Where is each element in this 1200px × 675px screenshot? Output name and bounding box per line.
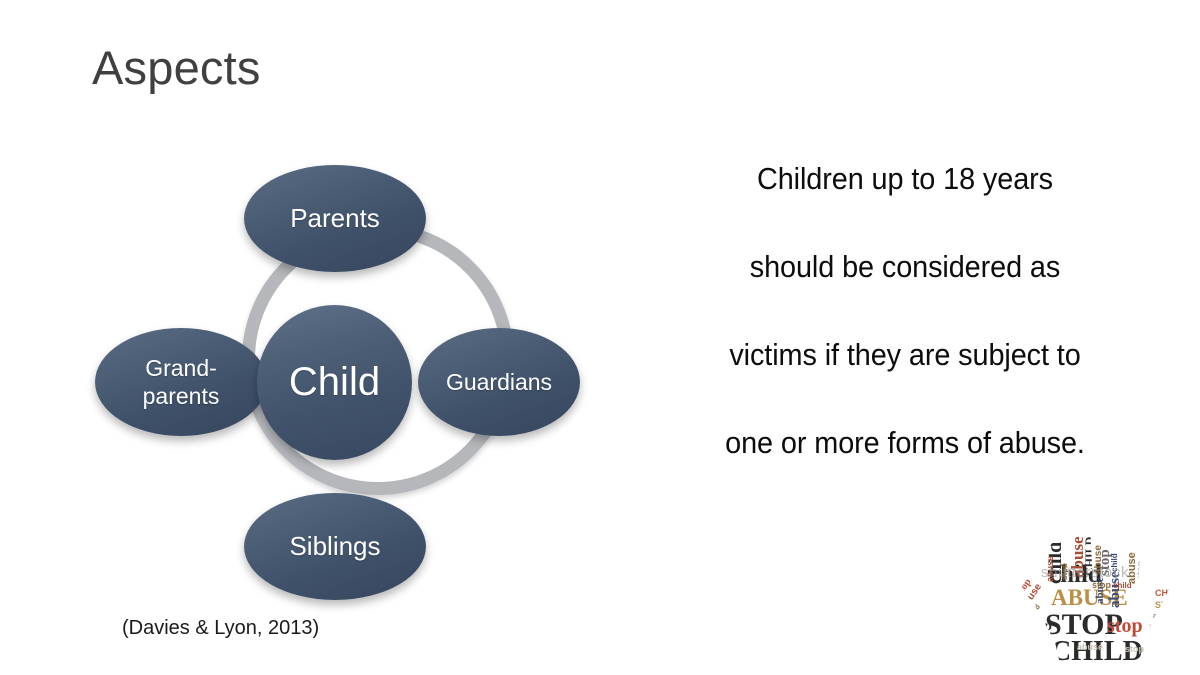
svg-text:stop: stop	[1149, 623, 1164, 630]
diagram-node-grandparents-label-line2: parents	[143, 382, 220, 410]
svg-text:abuse: abuse	[1093, 545, 1104, 574]
svg-text:abuse: abuse	[1153, 613, 1173, 620]
svg-text:STOP: STOP	[1155, 600, 1179, 610]
svg-text:child: child	[1033, 639, 1052, 648]
svg-text:stop: stop	[1125, 644, 1145, 654]
diagram-node-siblings-label: Siblings	[289, 531, 380, 563]
diagram-node-child-center[interactable]: Child	[257, 305, 412, 460]
body-copy-line-4: one or more forms of abuse.	[677, 427, 1133, 458]
svg-text:child: child	[1027, 604, 1042, 621]
svg-text:CHILD: CHILD	[1155, 588, 1183, 598]
body-copy-block: Children up to 18 years should be consid…	[660, 163, 1150, 458]
diagram-node-grandparents-label: Grand- parents	[143, 354, 220, 410]
svg-text:stop: stop	[1027, 619, 1052, 634]
body-copy-line-2: should be considered as	[677, 251, 1133, 282]
svg-text:child: child	[1110, 553, 1119, 572]
diagram-node-guardians-label: Guardians	[446, 368, 552, 396]
svg-text:abuse: abuse	[1077, 642, 1103, 652]
svg-text:stop: stop	[1107, 615, 1143, 637]
citation-reference: (Davies & Lyon, 2013)	[122, 617, 319, 640]
slide-canvas: Aspects Parents Guardians Siblings Grand…	[0, 0, 1200, 675]
wordcloud-hand-image: child ABUSE STOP stop CHILD stop abuse a…	[1003, 492, 1193, 668]
wordcloud-hand-icon: child ABUSE STOP stop CHILD stop abuse a…	[1003, 492, 1193, 668]
diagram-node-child-label: Child	[289, 358, 380, 407]
cycle-diagram: Parents Guardians Siblings Grand- parent…	[85, 155, 595, 605]
diagram-node-parents-label: Parents	[290, 203, 380, 235]
svg-text:stop: stop	[1135, 561, 1145, 581]
diagram-node-grandparents[interactable]: Grand- parents	[95, 328, 267, 436]
diagram-node-guardians[interactable]: Guardians	[418, 328, 580, 436]
diagram-node-parents[interactable]: Parents	[244, 165, 426, 272]
diagram-node-siblings[interactable]: Siblings	[244, 493, 426, 600]
body-copy-line-3: victims if they are subject to	[677, 339, 1133, 370]
diagram-node-grandparents-label-line1: Grand-	[143, 354, 220, 382]
svg-text:stop: stop	[1092, 580, 1112, 590]
svg-text:abuse: abuse	[1045, 556, 1055, 582]
page-title: Aspects	[92, 42, 261, 94]
body-copy-line-1: Children up to 18 years	[677, 163, 1133, 194]
